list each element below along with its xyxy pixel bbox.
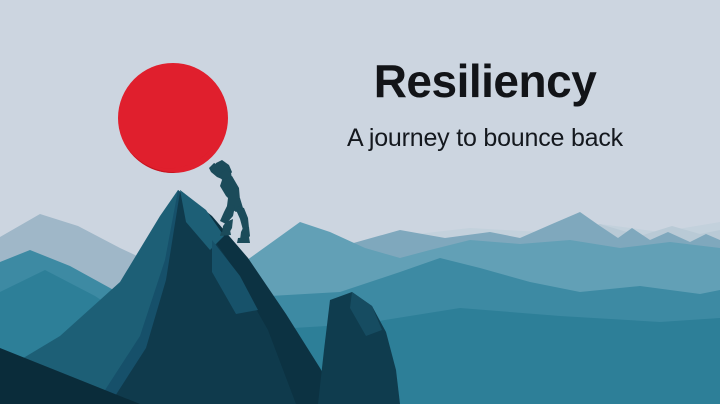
slide-canvas: Resiliency A journey to bounce back (0, 0, 720, 404)
title-block: Resiliency A journey to bounce back (275, 58, 695, 151)
page-subtitle: A journey to bounce back (275, 126, 695, 151)
page-title: Resiliency (275, 58, 695, 104)
